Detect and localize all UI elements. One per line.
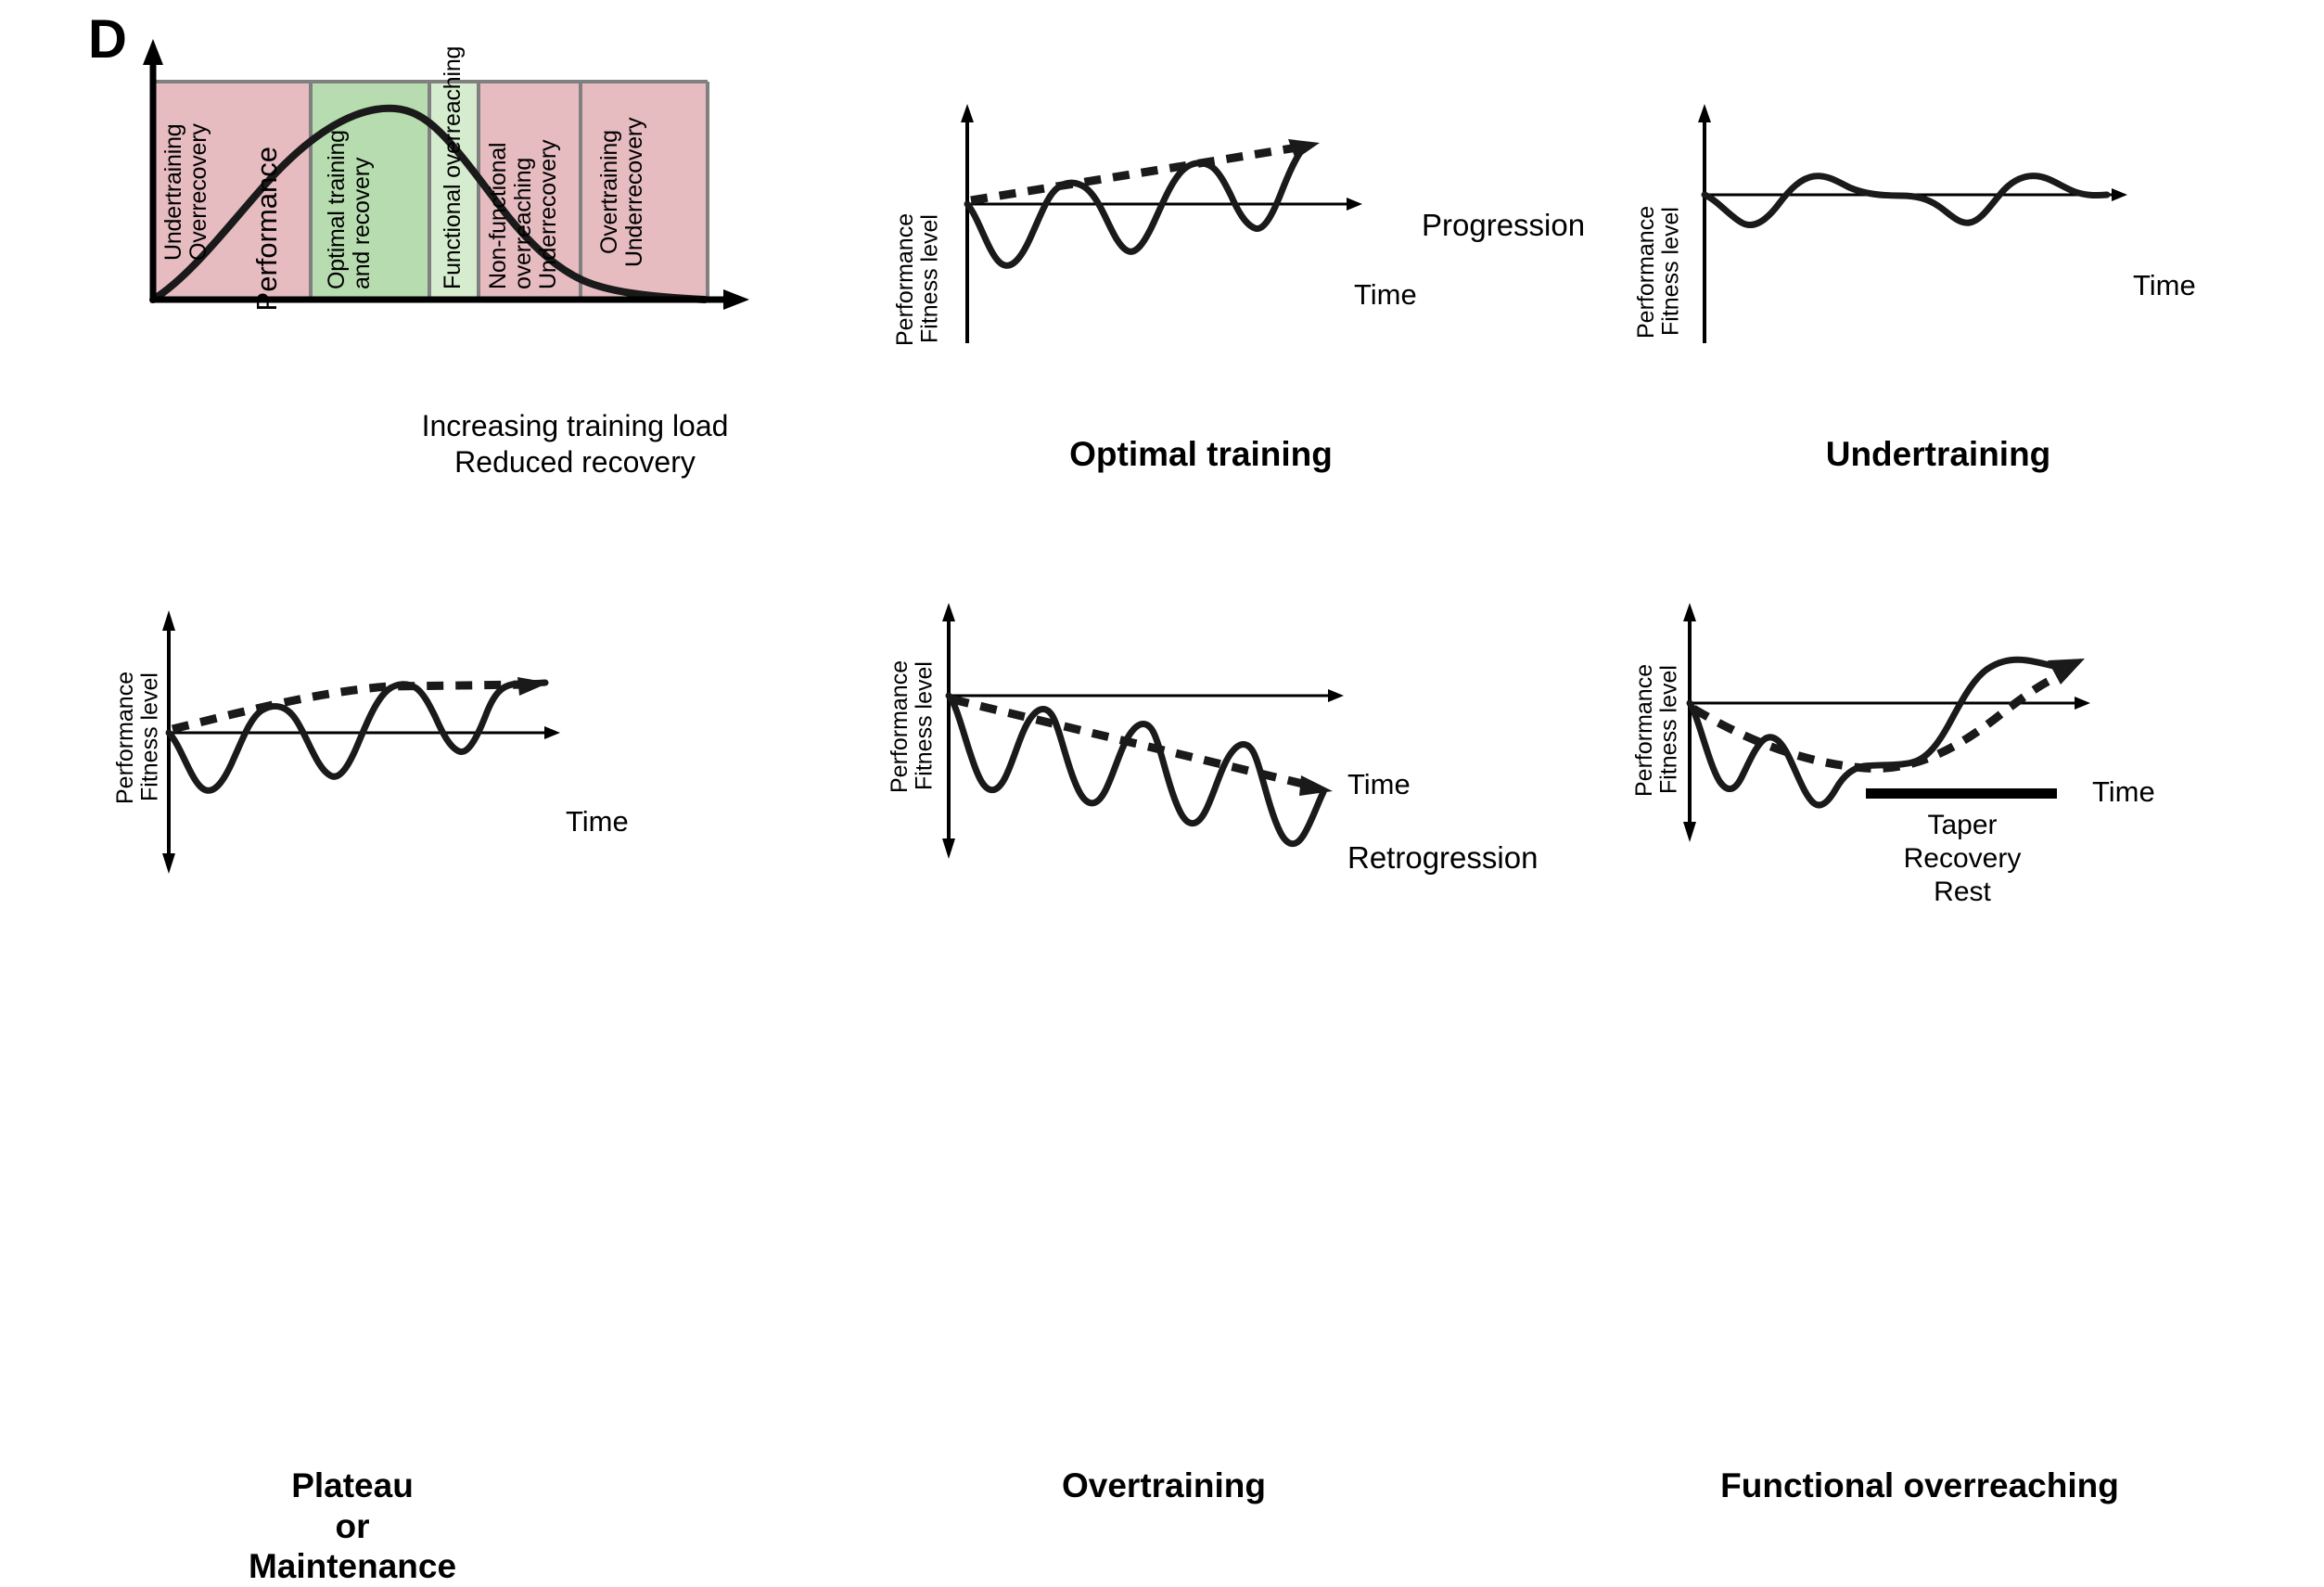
- panel-title: Optimal training: [960, 434, 1442, 475]
- xlabel-time: Time: [1347, 770, 1411, 799]
- ylabel: PerformanceFitness level: [1634, 202, 1683, 341]
- axes: [961, 104, 1362, 343]
- performance-curve: [1705, 176, 2107, 225]
- panel-title: Plateau or Maintenance: [130, 1465, 575, 1587]
- functional-overreaching-chart: PerformanceFitness level Time Taper Reco…: [1632, 603, 2318, 881]
- trend-line-progression: [971, 147, 1303, 200]
- inverted-u-chart: Performance UndertrainingOverrecovery Op…: [139, 37, 862, 371]
- band-label-undertraining: UndertrainingOverrecovery: [161, 95, 211, 289]
- overtraining-chart: PerformanceFitness level Time Retrogress…: [886, 603, 1609, 863]
- axes: [942, 603, 1344, 859]
- optimal-training-chart: PerformanceFitness level Time Progressio…: [886, 102, 1590, 334]
- plateau-chart: PerformanceFitness level Time Plateau or…: [111, 603, 798, 863]
- ylabel: PerformanceFitness level: [887, 620, 937, 833]
- band-label-optimal: Optimal trainingand recovery: [325, 167, 375, 289]
- taper-bar: [1866, 788, 2057, 799]
- band-label-functional-overreaching: Functional overreaching: [441, 122, 466, 289]
- panelD-ylabel: Performance: [252, 147, 281, 311]
- progression-label: Progression: [1422, 210, 1585, 240]
- ylabel: PerformanceFitness level: [113, 631, 162, 844]
- xlabel-time: Time: [2133, 271, 2196, 300]
- panelD-xlabel: Increasing training load Reduced recover…: [278, 408, 872, 480]
- trend-arrowhead: [1299, 775, 1333, 796]
- panel-letter: D: [88, 13, 127, 67]
- panelD-xlabel-line2: Reduced recovery: [454, 445, 696, 479]
- xlabel-time: Time: [1354, 280, 1417, 309]
- trend-arrowhead: [1288, 139, 1320, 160]
- panelD-xlabel-line1: Increasing training load: [422, 409, 729, 442]
- band-label-nonfunctional-overreaching: Non-functionaloverreachingUnderrecovery: [486, 158, 561, 289]
- ylabel: PerformanceFitness level: [1632, 623, 1681, 837]
- plateau-svg: [111, 603, 686, 881]
- taper-label: Taper Recovery Rest: [1860, 809, 2064, 909]
- trend-line: [1693, 677, 2057, 769]
- panel-title: Functional overreaching: [1623, 1465, 2216, 1506]
- panel-title: Undertraining: [1697, 434, 2179, 475]
- ylabel: PerformanceFitness level: [893, 210, 942, 349]
- overtraining-svg: [886, 603, 1479, 881]
- axes: [1683, 603, 2090, 842]
- band-label-overtraining: OvertrainingUnderrecovery: [597, 95, 647, 289]
- performance-curve: [169, 683, 545, 790]
- performance-curve: [967, 147, 1305, 265]
- undertraining-svg: [1632, 102, 2207, 343]
- xlabel-time: Time: [566, 807, 629, 836]
- undertraining-chart: PerformanceFitness level Time Undertrain…: [1632, 102, 2318, 334]
- trend-line: [172, 685, 530, 729]
- retrogression-label: Retrogression: [1347, 842, 1538, 873]
- performance-curve: [949, 696, 1323, 844]
- panel-title: Overtraining: [923, 1465, 1405, 1506]
- figure-panel-d: D: [0, 0, 2324, 1085]
- xlabel-time: Time: [2092, 777, 2155, 806]
- trend-arrowhead: [2048, 659, 2085, 685]
